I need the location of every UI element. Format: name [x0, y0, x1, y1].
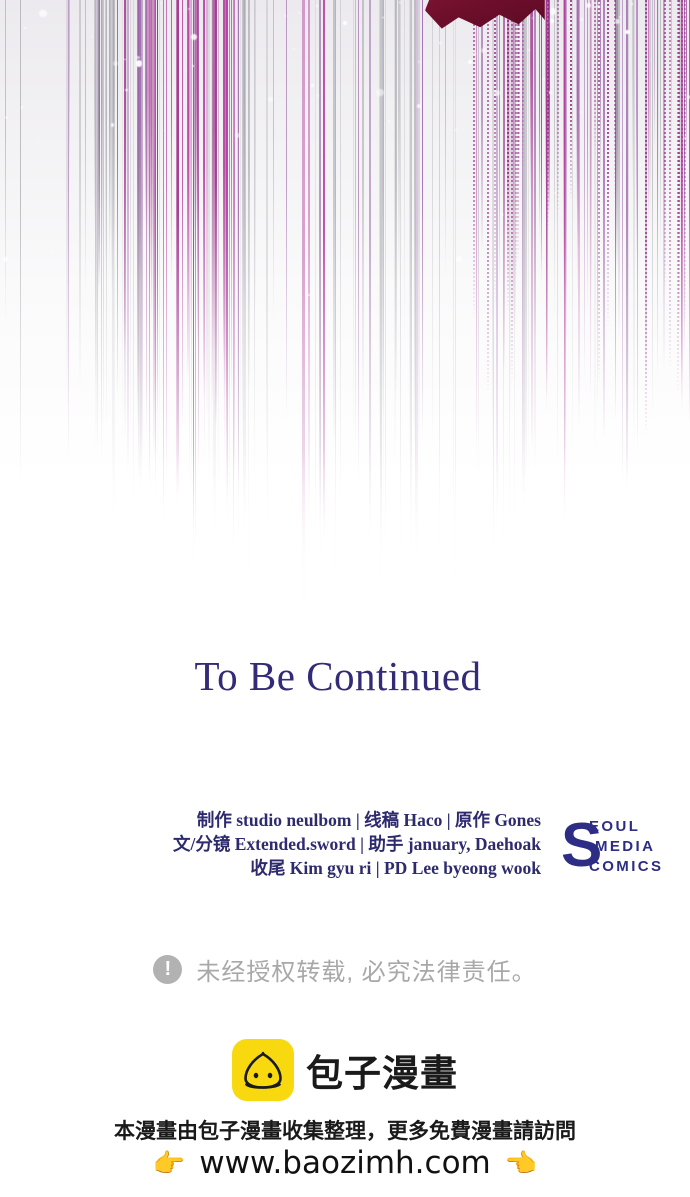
- sparkle-dot: [24, 27, 26, 29]
- credits-block: 制作 studio neulbom | 线稿 Haco | 原作 Gones 文…: [0, 808, 690, 888]
- streak-line: [212, 0, 213, 319]
- streak-line: [395, 0, 397, 403]
- streak-line: [130, 0, 132, 439]
- streak-line: [215, 0, 217, 427]
- streak-line: [564, 0, 565, 523]
- streak-line: [225, 0, 227, 400]
- streak-beaded: [473, 0, 475, 319]
- streak-line: [587, 0, 588, 310]
- footer-notice-text: 本漫畫由包子漫畫收集整理，更多免費漫畫請訪問: [0, 1115, 690, 1145]
- streak-line: [637, 0, 638, 454]
- streak-line: [422, 0, 423, 437]
- streak-line-long: [122, 0, 123, 452]
- credit-line-2: 文/分镜 Extended.sword | 助手 january, Daehoa…: [120, 832, 541, 856]
- exclamation-glyph: !: [164, 959, 171, 979]
- streak-line: [255, 0, 256, 319]
- streak-line: [566, 0, 568, 351]
- streak-beaded: [677, 0, 679, 397]
- sparkle-dot: [113, 61, 118, 66]
- streak-line: [197, 0, 199, 345]
- streak-line: [654, 0, 655, 150]
- streak-line: [323, 0, 325, 546]
- streak-beaded: [570, 0, 572, 200]
- streak-line: [171, 0, 173, 285]
- sparkle-dot: [192, 65, 194, 67]
- streak-line: [632, 0, 634, 191]
- streak-line: [572, 0, 573, 458]
- streak-line: [445, 0, 447, 280]
- sparkle-dot: [235, 133, 240, 138]
- streak-line: [166, 0, 167, 480]
- streak-line: [591, 0, 593, 314]
- streak-line: [439, 0, 441, 562]
- streak-line-long: [159, 0, 160, 433]
- streak-line: [499, 0, 500, 284]
- sparkle-dot: [52, 251, 54, 253]
- streak-line: [152, 0, 153, 316]
- streak-line: [409, 0, 411, 462]
- streak-line: [176, 0, 177, 503]
- streak-beaded: [664, 0, 666, 292]
- streak-line-long: [383, 0, 384, 500]
- streak-beaded: [515, 0, 517, 279]
- sparkle-dot: [456, 256, 462, 262]
- baozimh-brand-name: 包子漫畫: [306, 1043, 458, 1097]
- streak-line-long: [157, 0, 158, 465]
- streak-line: [622, 0, 623, 488]
- streak-line: [206, 0, 208, 417]
- streak-beaded: [511, 0, 513, 384]
- exclamation-icon: !: [153, 955, 182, 984]
- streak-line: [525, 0, 527, 478]
- streak-beaded: [681, 0, 683, 262]
- streak-line: [476, 0, 478, 455]
- sparkle-dot: [39, 10, 47, 18]
- publisher-word-comics: COMICS: [589, 857, 663, 877]
- streak-line: [267, 0, 268, 560]
- streak-line: [195, 0, 197, 568]
- streak-line: [534, 0, 536, 344]
- streak-line: [203, 0, 205, 397]
- sparkle-dot: [21, 106, 24, 109]
- streak-line: [149, 0, 151, 489]
- streak-line: [302, 0, 304, 619]
- streak-line: [539, 0, 540, 229]
- streak-beaded: [517, 0, 519, 263]
- streak-line: [333, 0, 335, 451]
- streak-line: [671, 0, 673, 152]
- sparkle-dot: [615, 19, 620, 24]
- streak-line: [240, 0, 241, 454]
- vertical-streaks: [0, 0, 690, 640]
- sparkle-dot: [580, 18, 583, 21]
- streak-line: [418, 0, 420, 454]
- streak-line: [124, 0, 125, 363]
- sparkle-dot: [136, 60, 143, 67]
- streak-line-long: [229, 0, 230, 539]
- streak-line-long: [503, 0, 504, 541]
- sparkle-dot: [311, 84, 313, 86]
- streak-line: [362, 0, 364, 404]
- streak-line: [404, 0, 405, 354]
- streak-line: [478, 0, 480, 478]
- artwork-panel: [0, 0, 690, 640]
- sparkle-dot: [376, 89, 384, 97]
- streak-line-long: [266, 0, 267, 473]
- sparkle-dot: [619, 16, 621, 18]
- sparkle-dot: [467, 66, 469, 68]
- streak-line: [5, 0, 6, 323]
- streak-line: [584, 0, 586, 383]
- streak-line-long: [453, 0, 454, 573]
- pointing-left-hand-icon: 👈: [505, 1150, 537, 1176]
- streak-line: [411, 0, 412, 538]
- streak-line-long: [455, 0, 456, 609]
- sparkle-dot: [298, 12, 300, 14]
- streak-line-long: [315, 0, 316, 597]
- streak-line: [101, 0, 102, 467]
- sparkle-dot: [179, 10, 181, 12]
- streak-line: [627, 0, 629, 424]
- credits-text: 制作 studio neulbom | 线稿 Haco | 原作 Gones 文…: [120, 808, 541, 880]
- publisher-word-media: MEDIA: [595, 837, 663, 857]
- sparkle-dot: [640, 164, 643, 167]
- sparkle-dot: [468, 60, 472, 64]
- streak-line-long: [211, 0, 212, 443]
- streak-line: [686, 0, 687, 165]
- streak-line: [379, 0, 380, 457]
- publisher-wordmark: EOUL MEDIA COMICS: [589, 817, 663, 877]
- sparkle-dot: [625, 30, 629, 34]
- streak-line: [103, 0, 104, 434]
- streak-line: [95, 0, 97, 392]
- streak-beaded: [487, 0, 489, 398]
- streak-line: [109, 0, 111, 241]
- streak-line: [85, 0, 86, 297]
- streak-line: [369, 0, 371, 540]
- streak-line: [648, 0, 650, 235]
- streak-line: [531, 0, 533, 453]
- streak-line: [600, 0, 601, 185]
- sparkle-dot: [399, 1, 401, 3]
- streak-line-long: [385, 0, 386, 590]
- streak-line-long: [146, 0, 147, 436]
- streak-line: [273, 0, 275, 321]
- credit-line-1: 制作 studio neulbom | 线稿 Haco | 原作 Gones: [120, 808, 541, 832]
- sparkle-dot: [388, 120, 390, 122]
- sparkle-dot: [293, 48, 295, 50]
- sparkle-dot: [268, 97, 273, 102]
- streak-line: [66, 0, 68, 408]
- streak-beaded: [547, 0, 549, 235]
- sparkle-dot: [473, 52, 475, 54]
- streak-line: [340, 0, 341, 520]
- streak-line: [98, 0, 99, 299]
- sparkle-dot: [439, 42, 441, 44]
- streak-line-long: [218, 0, 219, 520]
- sparkle-dot: [125, 89, 127, 91]
- sparkle-dot: [481, 48, 486, 53]
- streak-line: [415, 0, 416, 556]
- sparkle-dot: [3, 257, 8, 262]
- sparkle-dot: [316, 5, 318, 7]
- streak-line: [358, 0, 359, 480]
- streak-line: [603, 0, 605, 439]
- sparkle-dot: [284, 15, 286, 17]
- streak-line-long: [114, 0, 115, 587]
- streak-beaded: [669, 0, 671, 373]
- sparkle-dot: [528, 49, 530, 51]
- baozi-bun-icon[interactable]: [232, 1039, 294, 1101]
- streak-line: [231, 0, 232, 397]
- baozimh-brand[interactable]: 包子漫畫: [0, 1039, 690, 1101]
- streak-beaded: [594, 0, 596, 156]
- streak-beaded: [614, 0, 616, 201]
- sparkle-dot: [281, 17, 283, 19]
- streak-beaded: [607, 0, 609, 332]
- streak-line: [163, 0, 165, 528]
- copyright-notice-text: 未经授权转载, 必究法律责任。: [196, 952, 536, 987]
- streak-line: [660, 0, 662, 256]
- streak-beaded: [507, 0, 509, 314]
- streak-line: [117, 0, 118, 400]
- publisher-word-eoul: EOUL: [589, 817, 663, 837]
- sparkle-dot: [580, 111, 582, 113]
- sparkle-dot: [501, 213, 503, 215]
- streak-line: [416, 0, 418, 572]
- streak-beaded: [522, 0, 524, 172]
- streak-line: [20, 0, 21, 483]
- streak-line: [528, 0, 529, 470]
- streak-line: [657, 0, 658, 381]
- streak-line: [69, 0, 70, 182]
- sparkle-dot: [455, 129, 457, 131]
- streak-line: [138, 0, 140, 282]
- streak-line: [182, 0, 184, 428]
- streak-line: [481, 0, 483, 253]
- streak-line-long: [320, 0, 321, 571]
- streak-beaded: [684, 0, 686, 329]
- to-be-continued-title: To Be Continued: [0, 652, 690, 700]
- streak-line-long: [248, 0, 249, 613]
- pointing-right-hand-icon: 👉: [153, 1150, 185, 1176]
- streak-line: [308, 0, 310, 514]
- sparkle-dot: [308, 294, 310, 296]
- streak-line: [577, 0, 579, 249]
- sparkle-dot: [5, 116, 8, 119]
- streak-line-long: [191, 0, 192, 495]
- streak-line: [286, 0, 287, 418]
- footer-url-row[interactable]: 👉 www.baozimh.com 👈: [0, 1145, 690, 1181]
- streak-line: [105, 0, 107, 276]
- sparkle-dot: [343, 21, 348, 26]
- sparkle-dot: [91, 36, 93, 38]
- sparkle-dot: [417, 104, 421, 108]
- streak-line: [355, 0, 356, 454]
- streak-beaded: [645, 0, 647, 437]
- streak-line: [545, 0, 546, 209]
- streak-line: [238, 0, 239, 495]
- baozimh-url[interactable]: www.baozimh.com: [199, 1145, 491, 1181]
- streak-line: [245, 0, 246, 365]
- streak-beaded: [494, 0, 496, 158]
- streak-line: [177, 0, 179, 499]
- sparkle-dot: [37, 142, 39, 144]
- streak-line: [541, 0, 542, 288]
- streak-line: [497, 0, 499, 532]
- streak-line-long: [189, 0, 190, 495]
- streak-line: [554, 0, 556, 321]
- credit-line-3: 收尾 Kim gyu ri | PD Lee byeong wook: [120, 856, 541, 880]
- sparkle-dot: [160, 2, 163, 5]
- sparkle-dot: [494, 90, 500, 96]
- copyright-notice: ! 未经授权转载, 必究法律责任。: [0, 952, 690, 987]
- streak-line: [649, 0, 651, 227]
- streak-beaded: [598, 0, 600, 164]
- sparkle-dot: [549, 91, 552, 94]
- sparkle-dot: [571, 158, 574, 161]
- sparkle-dot: [188, 8, 190, 10]
- streak-line: [79, 0, 81, 390]
- streak-line-long: [133, 0, 134, 519]
- streak-line: [234, 0, 235, 478]
- streak-line-long: [400, 0, 401, 558]
- seoul-media-comics-logo: S EOUL MEDIA COMICS: [561, 811, 681, 883]
- streak-line: [432, 0, 433, 455]
- sparkle-dot: [631, 3, 633, 5]
- streak-beaded: [557, 0, 559, 218]
- streak-line: [618, 0, 620, 342]
